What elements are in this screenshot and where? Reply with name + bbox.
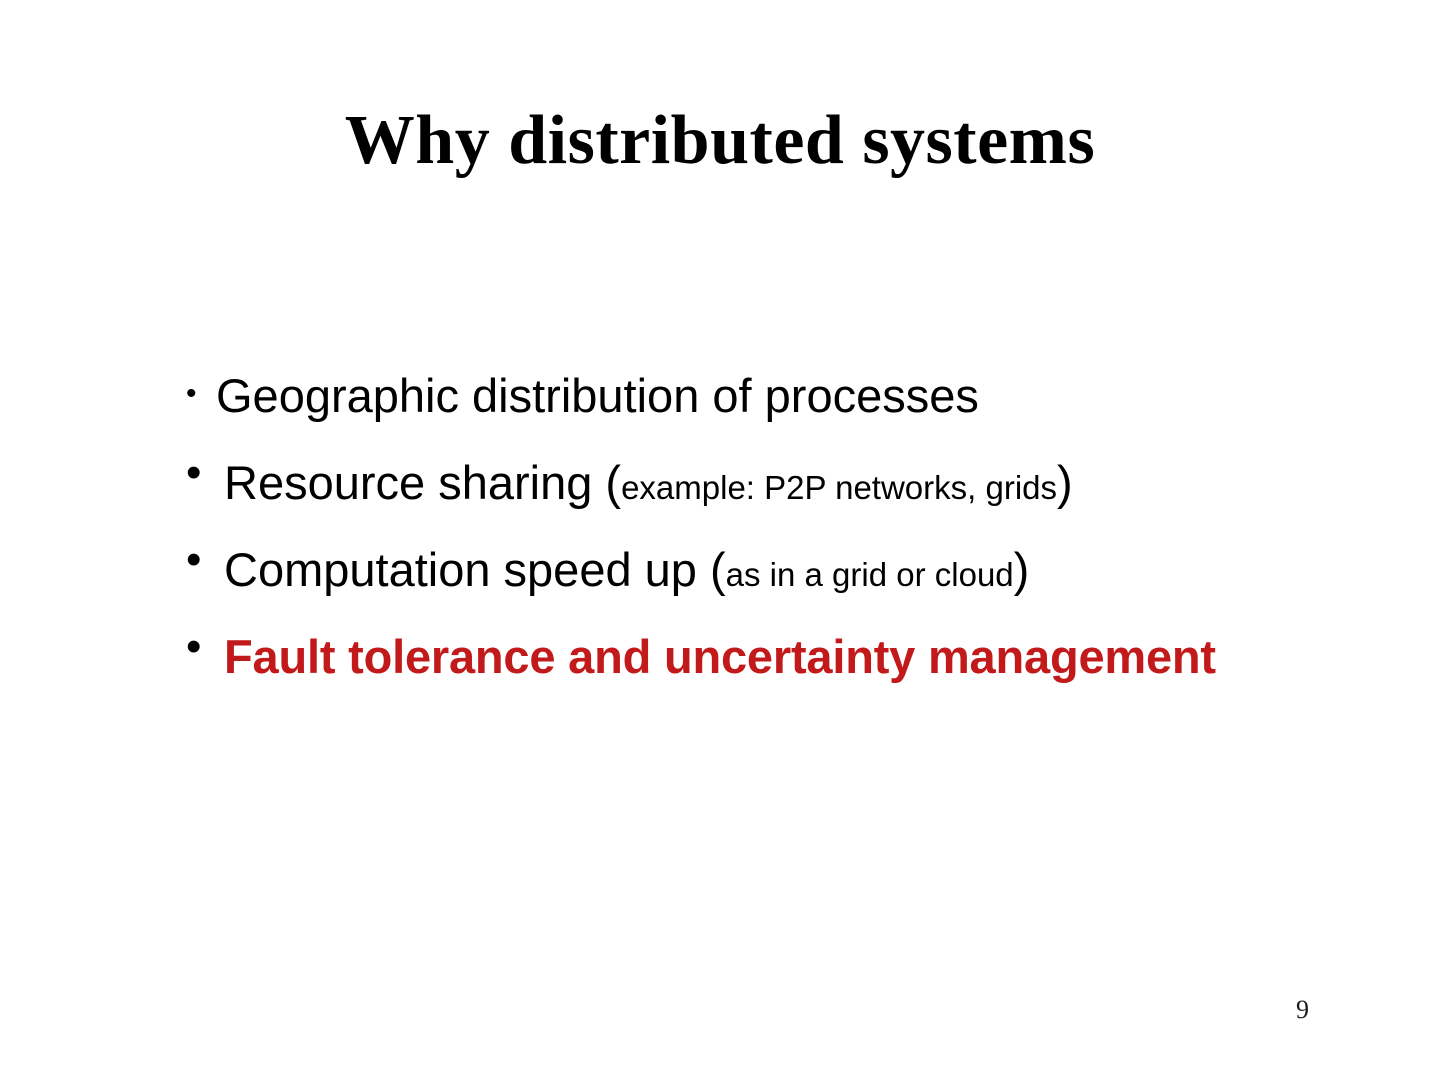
bullet-list: • Geographic distribution of processes •… xyxy=(186,368,1426,716)
list-item-label: Fault tolerance and uncertainty manageme… xyxy=(224,630,1216,683)
list-item-text: Fault tolerance and uncertainty manageme… xyxy=(224,629,1216,685)
slide-title: Why distributed systems xyxy=(0,98,1440,184)
paren-close: ) xyxy=(1014,543,1030,596)
paren-open: ( xyxy=(710,543,726,596)
bullet-point-icon: • xyxy=(186,538,224,582)
list-item: • Computation speed up (as in a grid or … xyxy=(186,542,1426,629)
list-item-text: Geographic distribution of processes xyxy=(216,368,979,424)
list-item-annotation: as in a grid or cloud xyxy=(726,556,1014,593)
paren-close: ) xyxy=(1057,456,1073,509)
list-item-label: Computation speed up xyxy=(224,543,710,596)
paren-open: ( xyxy=(605,456,621,509)
list-item-text: Computation speed up (as in a grid or cl… xyxy=(224,542,1029,603)
list-item: • Resource sharing (example: P2P network… xyxy=(186,455,1426,542)
list-item-label: Resource sharing xyxy=(224,456,605,509)
list-item-label: Geographic distribution of processes xyxy=(216,369,979,422)
bullet-point-icon: • xyxy=(186,379,216,409)
list-item-text: Resource sharing (example: P2P networks,… xyxy=(224,455,1073,516)
list-item: • Geographic distribution of processes xyxy=(186,368,1426,455)
list-item-annotation: example: P2P networks, grids xyxy=(621,469,1057,506)
page-number: 9 xyxy=(1296,995,1309,1025)
list-item: • Fault tolerance and uncertainty manage… xyxy=(186,629,1426,716)
presentation-slide: Why distributed systems • Geographic dis… xyxy=(0,0,1440,1080)
bullet-point-icon: • xyxy=(186,451,224,495)
bullet-point-icon: • xyxy=(186,625,224,669)
